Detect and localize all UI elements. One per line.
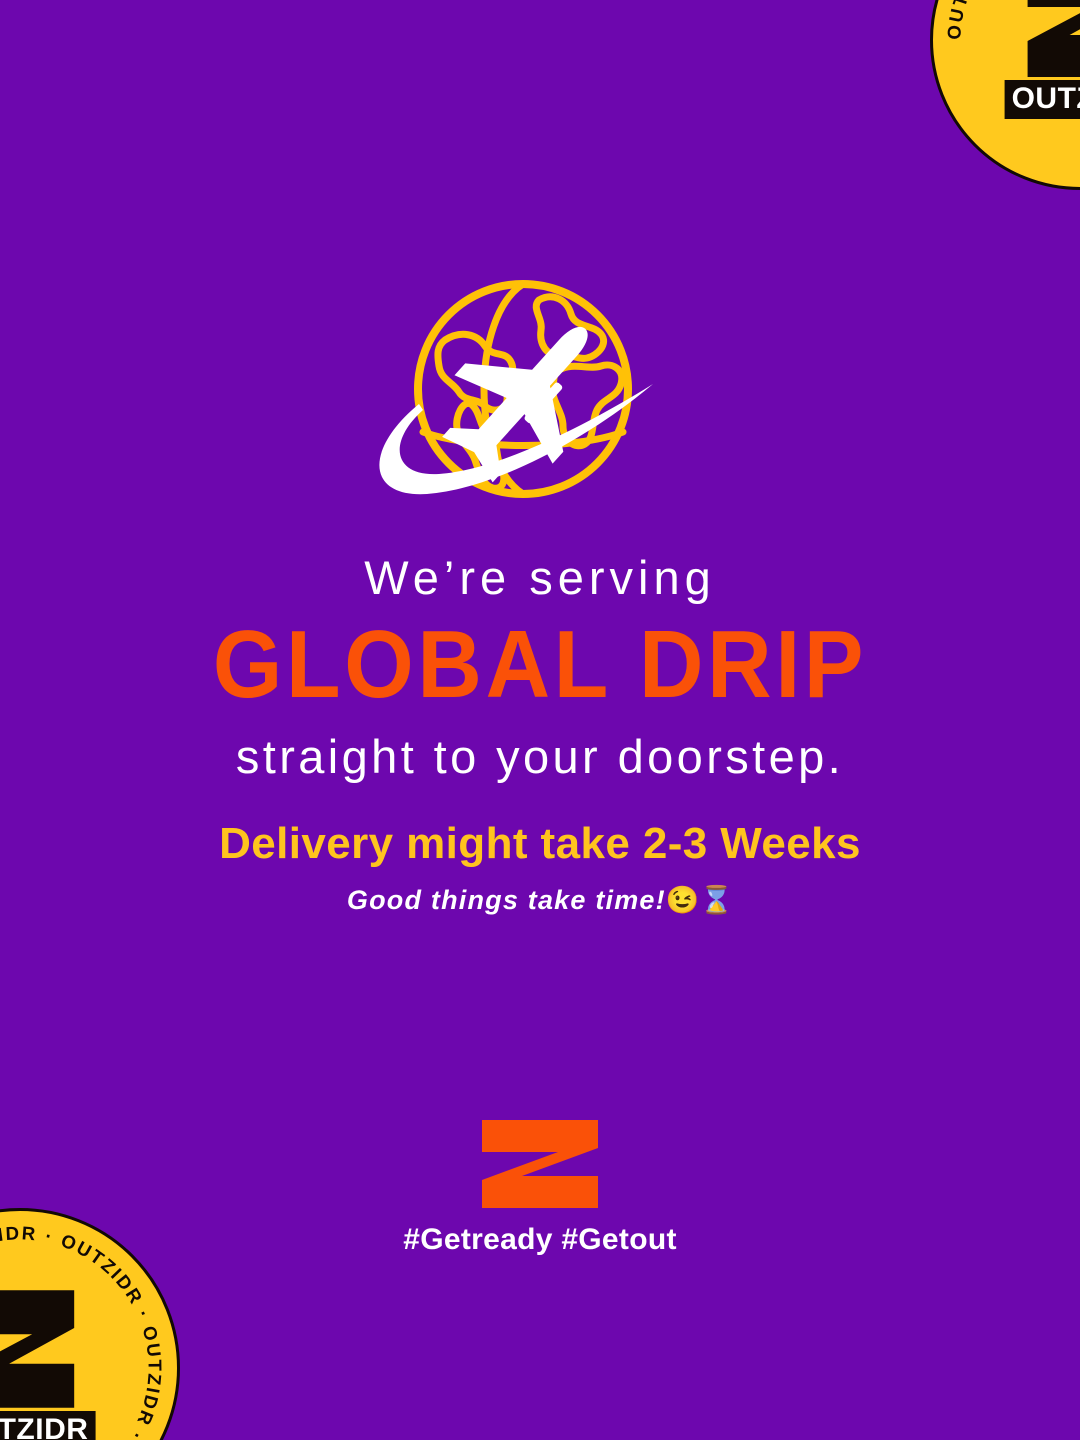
- delivery-time-text: Delivery might take 2-3 Weeks: [0, 820, 1080, 868]
- z-monogram-icon: [0, 1286, 90, 1417]
- subheadline-text: straight to your doorstep.: [0, 731, 1080, 784]
- badge-core-bottom-left: OUTZIDR: [0, 1286, 95, 1440]
- badge-wordmark-bottom-left: OUTZIDR: [0, 1415, 88, 1440]
- eyebrow-text: We’re serving: [0, 552, 1080, 605]
- tagline-text: #Getready #Getout: [403, 1223, 677, 1256]
- z-monogram-icon: [1014, 0, 1080, 86]
- badge-core-top-right: OUTZIDR: [1005, 0, 1080, 119]
- hourglass-emoji: ⌛: [699, 885, 733, 915]
- badge-top-right: OUTZIDR · OUTZIDR · OUTZIDR · OUTZIDR · …: [930, 0, 1080, 190]
- globe-airplane-icon: [353, 272, 723, 517]
- headline-text: GLOBAL DRIP: [38, 617, 1042, 713]
- wink-face-emoji: 😉: [666, 885, 700, 915]
- delivery-note-text: Good things take time!: [347, 885, 666, 915]
- badge-wordmark-box-top-right: OUTZIDR: [1005, 80, 1080, 119]
- poster-canvas: OUTZIDR · OUTZIDR · OUTZIDR · OUTZIDR · …: [0, 0, 1080, 1440]
- badge-wordmark-box-bottom-left: OUTZIDR: [0, 1411, 95, 1440]
- delivery-note: Good things take time!😉⌛: [0, 884, 1080, 916]
- headline-block: We’re serving GLOBAL DRIP straight to yo…: [0, 552, 1080, 783]
- delivery-notice-block: Delivery might take 2-3 Weeks Good thing…: [0, 820, 1080, 917]
- badge-wordmark-top-right: OUTZIDR: [1012, 84, 1080, 114]
- footer-brand-block: #Getready #Getout: [0, 1118, 1080, 1256]
- outzidr-z-logo-icon: [478, 1118, 602, 1210]
